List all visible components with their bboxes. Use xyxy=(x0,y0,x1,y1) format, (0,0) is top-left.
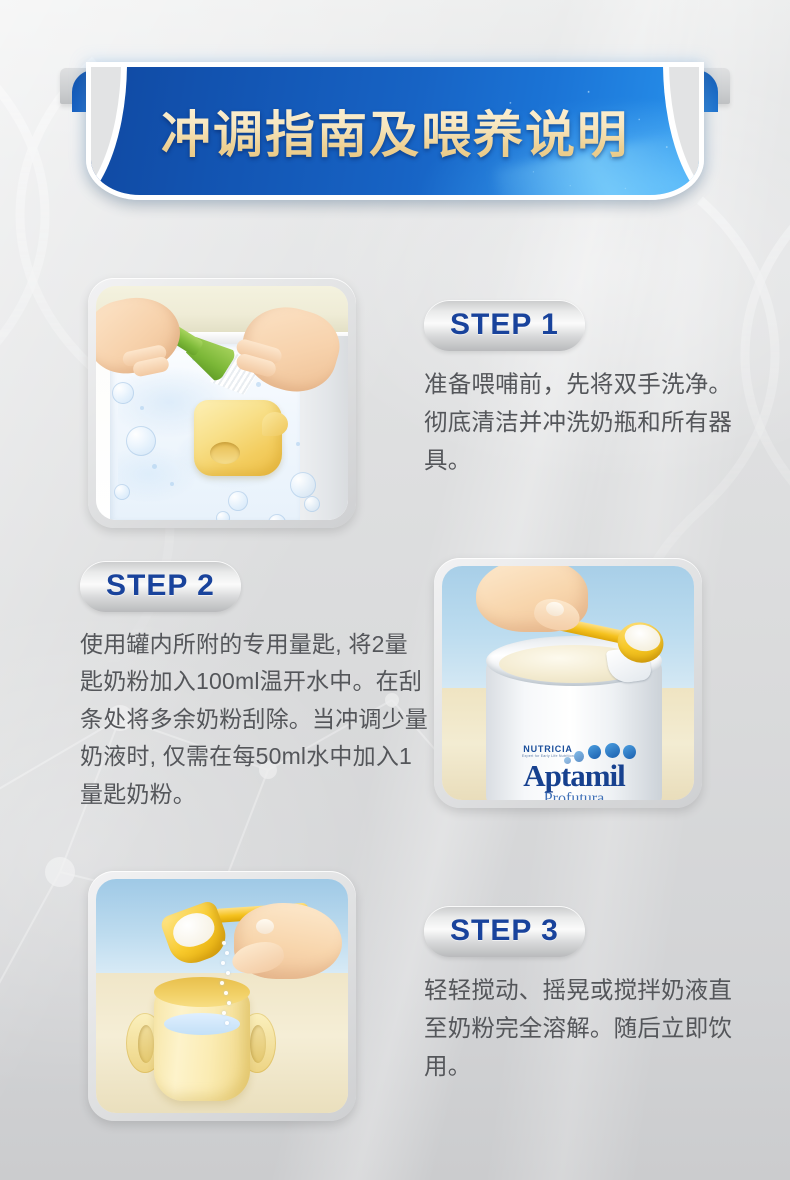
step-2-body: 使用罐内所附的专用量匙, 将2量匙奶粉加入100ml温开水中。在刮条处将多余奶粉… xyxy=(80,626,430,813)
bubble-icon xyxy=(304,496,320,512)
foam-dot xyxy=(140,406,144,410)
bubble-icon xyxy=(290,472,316,498)
bubble-icon xyxy=(114,484,130,500)
step-1-badge-label: STEP 1 xyxy=(450,308,559,341)
step-row-1: STEP 1 准备喂哺前，先将双手洗净。彻底清洁并冲洗奶瓶和所有器具。 xyxy=(0,275,790,535)
foam-dot xyxy=(170,482,174,486)
foam-dot xyxy=(296,442,300,446)
foam-dot xyxy=(152,464,157,469)
aptamil-sub-logo-text: Profutura xyxy=(486,793,662,800)
step-2-image-card: NUTRICIA Expert for Early Life Nutrition… xyxy=(434,558,702,808)
step-1-badge: STEP 1 xyxy=(424,300,585,351)
step-3-text-block: STEP 3 轻轻搅动、摇晃或搅拌奶液直至奶粉完全溶解。随后立即饮用。 xyxy=(424,906,754,1085)
hand-icon xyxy=(476,566,598,662)
hand-icon xyxy=(226,903,342,1007)
step-3-body: 轻轻搅动、摇晃或搅拌奶液直至奶粉完全溶解。随后立即饮用。 xyxy=(424,971,754,1085)
step-2-text-block: STEP 2 使用罐内所附的专用量匙, 将2量匙奶粉加入100ml温开水中。在刮… xyxy=(80,561,430,813)
pouring-powder-illustration xyxy=(96,879,348,1113)
washing-bottle-illustration xyxy=(96,286,348,520)
step-row-2: STEP 2 使用罐内所附的专用量匙, 将2量匙奶粉加入100ml温开水中。在刮… xyxy=(0,555,790,815)
step-3-badge-label: STEP 3 xyxy=(450,914,559,947)
step-3-image-card xyxy=(88,871,356,1121)
bubble-icon xyxy=(228,491,248,511)
tin-branding: NUTRICIA Expert for Early Life Nutrition… xyxy=(486,745,662,800)
step-1-text-block: STEP 1 准备喂哺前，先将双手洗净。彻底清洁并冲洗奶瓶和所有器具。 xyxy=(424,300,754,479)
header-banner: 冲调指南及喂养说明 xyxy=(0,62,790,202)
bubble-icon xyxy=(216,511,230,520)
step-1-image-card xyxy=(88,278,356,528)
bubble-icon xyxy=(112,382,134,404)
foam-dot xyxy=(256,382,261,387)
step-1-body: 准备喂哺前，先将双手洗净。彻底清洁并冲洗奶瓶和所有器具。 xyxy=(424,365,754,479)
step-3-badge: STEP 3 xyxy=(424,906,585,957)
scooping-powder-illustration: NUTRICIA Expert for Early Life Nutrition… xyxy=(442,566,694,800)
aptamil-dots-icon xyxy=(564,743,636,769)
bubble-icon xyxy=(126,426,156,456)
step-2-badge-label: STEP 2 xyxy=(106,569,215,602)
page-title: 冲调指南及喂养说明 xyxy=(161,95,629,167)
step-row-3: STEP 3 轻轻搅动、摇晃或搅拌奶液直至奶粉完全溶解。随后立即饮用。 xyxy=(0,868,790,1118)
page-root: 冲调指南及喂养说明 xyxy=(0,0,790,1180)
banner-plate: 冲调指南及喂养说明 xyxy=(86,62,704,200)
step-2-badge: STEP 2 xyxy=(80,561,241,612)
